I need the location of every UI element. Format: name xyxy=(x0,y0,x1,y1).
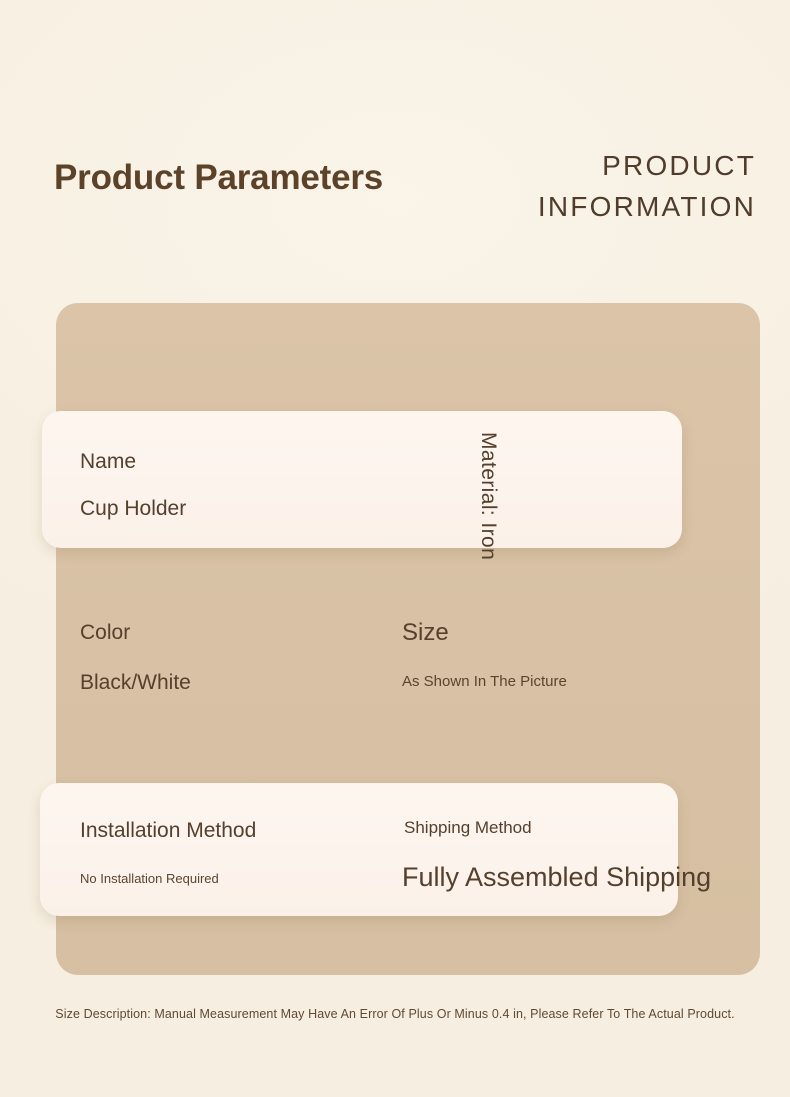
page-header: Product Parameters PRODUCT INFORMATION xyxy=(0,0,790,300)
name-card xyxy=(42,411,682,548)
size-description-footnote: Size Description: Manual Measurement May… xyxy=(0,1007,790,1021)
name-label: Name xyxy=(80,450,136,474)
eyebrow-line-2: INFORMATION xyxy=(336,186,756,227)
material-vertical-text: Material: Iron xyxy=(476,432,500,560)
shipping-method-value: Fully Assembled Shipping xyxy=(402,862,711,893)
shipping-method-label: Shipping Method xyxy=(404,818,532,838)
size-label: Size xyxy=(402,619,449,647)
installation-method-value: No Installation Required xyxy=(80,871,219,886)
color-value: Black/White xyxy=(80,671,191,695)
page-title: Product Parameters xyxy=(54,158,383,198)
color-label: Color xyxy=(80,621,130,645)
installation-method-label: Installation Method xyxy=(80,819,256,843)
installation-card xyxy=(40,783,678,916)
product-parameters-page: Product Parameters PRODUCT INFORMATION N… xyxy=(0,0,790,1097)
size-value: As Shown In The Picture xyxy=(402,673,567,690)
eyebrow-line-1: PRODUCT xyxy=(336,145,756,186)
eyebrow-heading: PRODUCT INFORMATION xyxy=(336,145,756,227)
name-value: Cup Holder xyxy=(80,497,186,521)
